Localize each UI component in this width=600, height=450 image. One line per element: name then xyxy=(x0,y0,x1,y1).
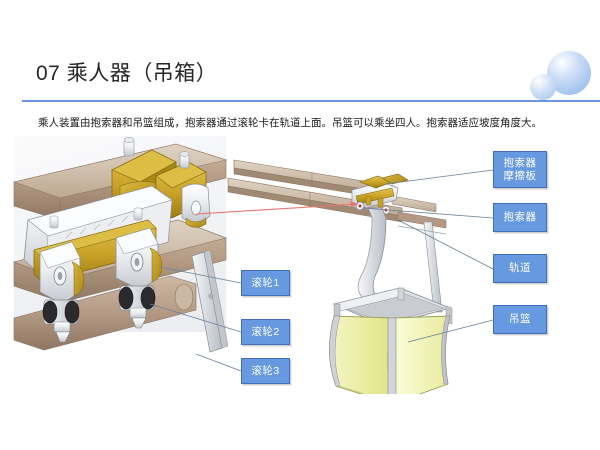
slide-description: 乘人装置由抱索器和吊篮组成，抱索器通过滚轮卡在轨道上面。吊篮可以乘坐四人。抱索器… xyxy=(38,115,578,131)
decorative-circle-small-icon xyxy=(530,74,556,100)
callout-rail[interactable]: 轨道 xyxy=(493,254,547,283)
title-divider xyxy=(22,100,600,102)
callout-roller-2[interactable]: 滚轮2 xyxy=(241,319,290,345)
callout-rope-grip[interactable]: 抱索器 xyxy=(493,203,547,232)
callout-cabin[interactable]: 吊篮 xyxy=(493,305,547,334)
callout-roller-3[interactable]: 滚轮3 xyxy=(241,358,290,384)
page-title: 07 乘人器（吊箱） xyxy=(36,57,217,87)
callout-roller-1[interactable]: 滚轮1 xyxy=(241,270,290,296)
friction-shoe xyxy=(182,184,210,228)
carrier-overview xyxy=(196,160,452,394)
leader-roller-3 xyxy=(196,354,241,371)
callout-friction-plate[interactable]: 抱索器 摩擦板 xyxy=(493,151,547,188)
slide-canvas: 07 乘人器（吊箱） 乘人装置由抱索器和吊篮组成，抱索器通过滚轮卡在轨道上面。吊… xyxy=(0,0,600,450)
gondola-cabin xyxy=(329,316,450,394)
